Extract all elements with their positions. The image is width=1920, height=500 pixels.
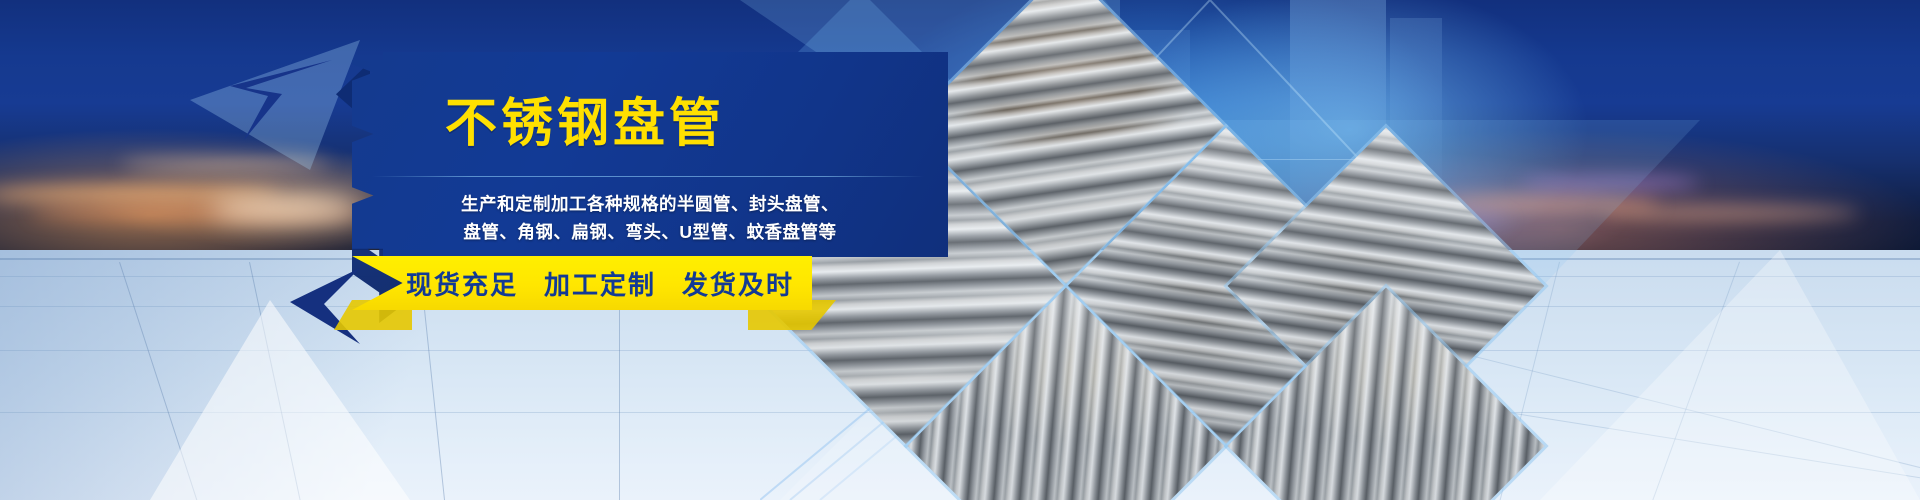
city-light-streak xyxy=(210,196,360,222)
panel-subtitle: 生产和定制加工各种规格的半圆管、封头盘管、 盘管、角钢、扁钢、弯头、U型管、蚊香… xyxy=(352,190,948,247)
page-title: 不锈钢盘管 xyxy=(445,98,725,150)
highlight-item-2: 加工定制 xyxy=(544,265,656,302)
highlight-item-3: 发货及时 xyxy=(682,265,794,302)
highlight-item-1: 现货充足 xyxy=(406,265,518,302)
decor-triangle xyxy=(1540,250,1920,500)
panel-subtitle-line: 生产和定制加工各种规格的半圆管、封头盘管、 xyxy=(352,190,948,218)
chevron-arrow-icon xyxy=(222,60,332,140)
panel-divider xyxy=(372,176,924,177)
highlight-list: 现货充足 加工定制 发货及时 xyxy=(352,256,812,310)
panel-subtitle-line: 盘管、角钢、扁钢、弯头、U型管、蚊香盘管等 xyxy=(352,218,948,246)
product-photo-collage-right xyxy=(1138,102,1438,500)
product-hero-banner: 不锈钢盘管 生产和定制加工各种规格的半圆管、封头盘管、 盘管、角钢、扁钢、弯头、… xyxy=(0,0,1920,500)
highlight-ribbon: 现货充足 加工定制 发货及时 xyxy=(352,256,812,310)
chevron-arrow-icon xyxy=(280,268,360,344)
